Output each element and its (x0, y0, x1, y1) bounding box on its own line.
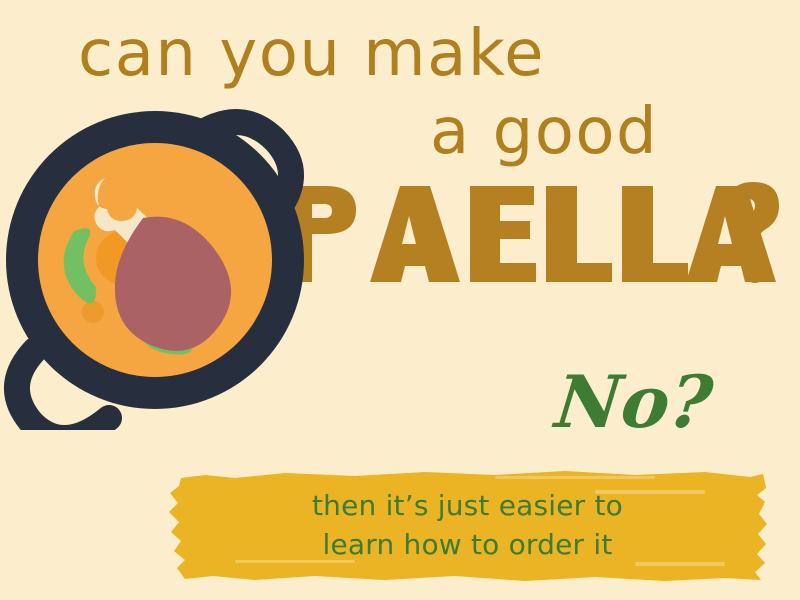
headline-line-1: can you make (78, 22, 545, 86)
display-word-paella (278, 178, 788, 288)
answer-no: No? (552, 366, 716, 438)
headline-line-2: a good (430, 100, 658, 164)
poster-canvas: can you make a good (0, 0, 800, 600)
paella-letters (282, 186, 776, 282)
pea-small-left (82, 301, 104, 323)
brush-banner (165, 462, 770, 588)
paella-pan-illustration (0, 100, 325, 430)
